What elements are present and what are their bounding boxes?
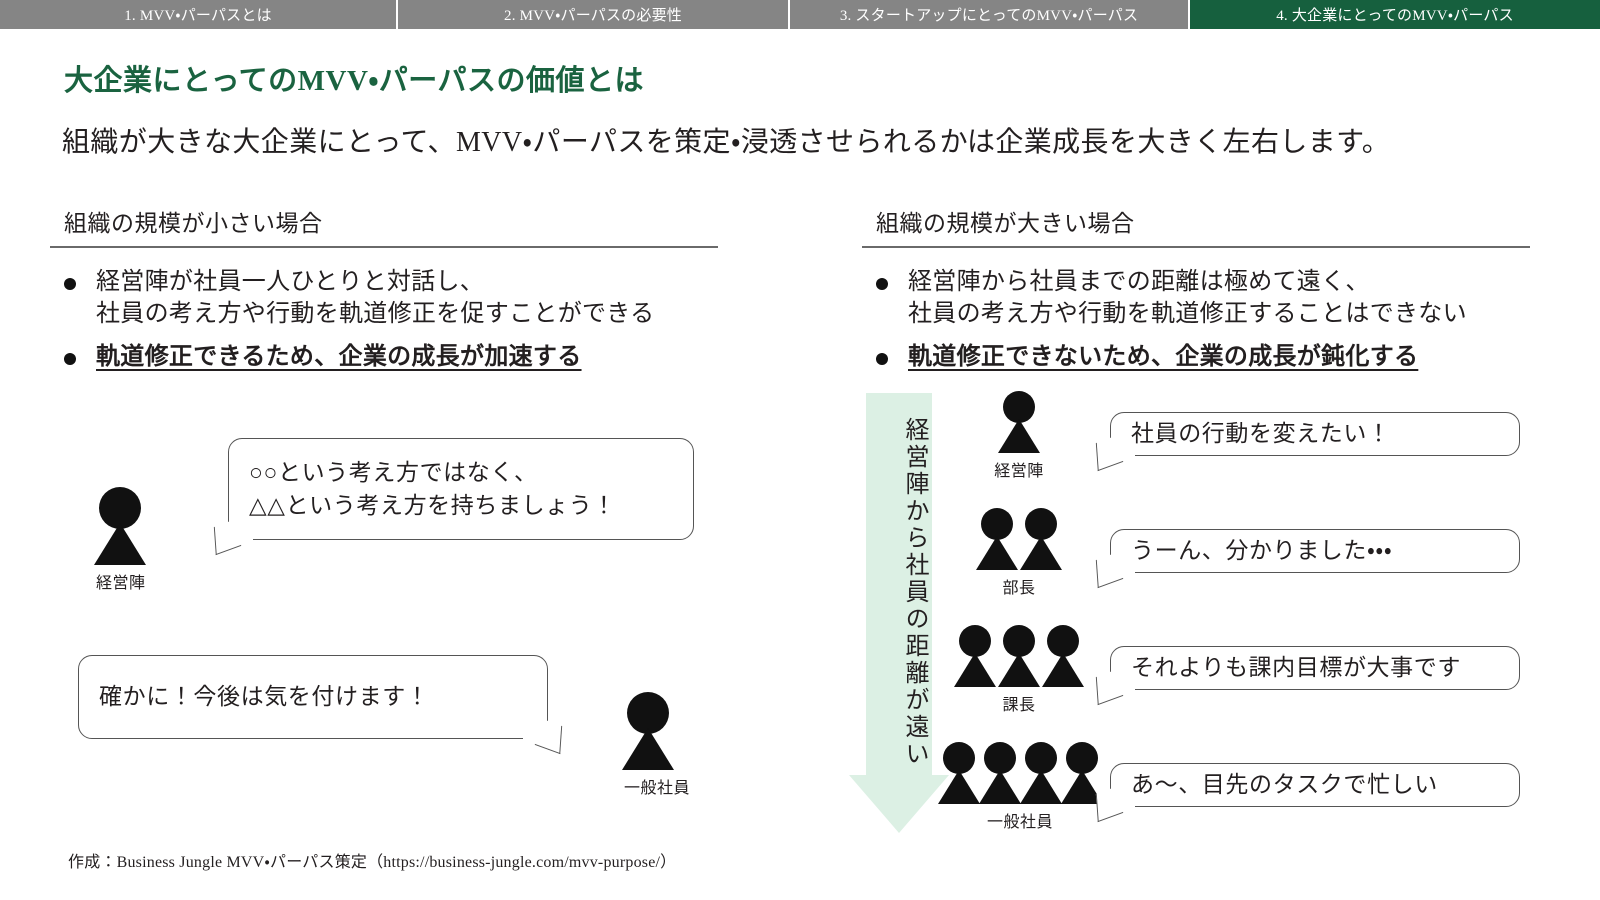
- person-icon: [981, 742, 1018, 804]
- hierarchy-level-kacho: 課長: [946, 625, 1092, 715]
- person-caption: 経営陣: [946, 457, 1092, 481]
- tab-2[interactable]: 2. MVV・パーパスの必要性: [398, 0, 790, 29]
- person-body-icon: [622, 728, 674, 770]
- person-icon: [977, 508, 1017, 570]
- hierarchy-level-bucho: 部長: [946, 508, 1092, 598]
- speech-bubble-level-bucho: うーん、分かりました・・・: [1110, 529, 1520, 573]
- right-panel-heading: 組織の規模が大きい場合: [862, 204, 1530, 238]
- speech-bubble-text: それよりも課内目標が大事です: [1131, 651, 1461, 684]
- right-panel-bullets: 経営陣から社員までの距離は極めて遠く、 社員の考え方や行動を軌道修正することはで…: [862, 266, 1530, 373]
- bullet-text-emphasis: 軌道修正できないため、企業の成長が鈍化する: [908, 341, 1418, 373]
- person-caption: 一般社員: [624, 774, 672, 798]
- list-item: 経営陣から社員までの距離は極めて遠く、 社員の考え方や行動を軌道修正することはで…: [876, 266, 1530, 331]
- person-icon: [1063, 742, 1100, 804]
- bullet-dot-icon: [64, 278, 76, 290]
- speech-bubble-text: 社員の行動を変えたい！: [1131, 417, 1391, 450]
- speech-bubble-text: あ〜、目先のタスクで忙しい: [1131, 768, 1438, 801]
- person-icon: [624, 692, 672, 770]
- speech-bubble-level-executive: 社員の行動を変えたい！: [1110, 412, 1520, 456]
- bullet-text: 経営陣が社員一人ひとりと対話し、 社員の考え方や行動を軌道修正を促すことができる: [96, 266, 654, 331]
- person-caption: 経営陣: [96, 569, 144, 593]
- panel-large-organization: 組織の規模が大きい場合 経営陣から社員までの距離は極めて遠く、 社員の考え方や行…: [862, 204, 1530, 383]
- page-lead-text: 組織が大きな大企業にとって、MVV・パーパスを策定・浸透させられるかは企業成長を…: [62, 120, 1390, 160]
- speech-bubble-text: ○○という考え方ではなく、 △△という考え方を持ちましょう！: [249, 456, 616, 523]
- person-body-icon: [954, 653, 996, 687]
- tail-seam-mask: [523, 736, 545, 742]
- person-body-icon: [94, 523, 146, 565]
- speech-bubble-text: うーん、分かりました・・・: [1131, 534, 1392, 567]
- person-body-icon: [1020, 536, 1062, 570]
- tail-seam-mask: [231, 537, 253, 543]
- person-icon: [1043, 625, 1083, 687]
- tail-seam-mask: [1113, 687, 1135, 693]
- arrow-head: [849, 775, 949, 833]
- tab-1[interactable]: 1. MVV・パーパスとは: [0, 0, 398, 29]
- speech-bubble-level-kacho: それよりも課内目標が大事です: [1110, 646, 1520, 690]
- person-body-icon: [998, 653, 1040, 687]
- tail-seam-mask: [1113, 570, 1135, 576]
- speech-bubble-level-staff: あ〜、目先のタスクで忙しい: [1110, 763, 1520, 807]
- person-group: [940, 742, 1100, 804]
- list-item: 軌道修正できるため、企業の成長が加速する: [64, 341, 718, 373]
- list-item: 経営陣が社員一人ひとりと対話し、 社員の考え方や行動を軌道修正を促すことができる: [64, 266, 718, 331]
- speech-bubble-staff: 確かに！今後は気を付けます！: [78, 655, 548, 739]
- left-staff-figure: 一般社員: [624, 692, 672, 798]
- hierarchy-level-staff: 一般社員: [940, 742, 1100, 832]
- person-group: [946, 391, 1092, 453]
- left-executive-figure: 経営陣: [96, 487, 144, 593]
- person-icon: [1021, 508, 1061, 570]
- bullet-dot-icon: [64, 353, 76, 365]
- person-caption: 部長: [946, 574, 1092, 598]
- left-panel-bullets: 経営陣が社員一人ひとりと対話し、 社員の考え方や行動を軌道修正を促すことができる…: [50, 266, 718, 373]
- hierarchy-level-executive: 経営陣: [946, 391, 1092, 481]
- person-body-icon: [938, 770, 980, 804]
- person-body-icon: [1020, 770, 1062, 804]
- distance-arrow-down-icon: 経営陣から社員の距離が遠い: [866, 393, 932, 833]
- arrow-label: 経営陣から社員の距離が遠い: [866, 417, 932, 768]
- person-group: [946, 508, 1092, 570]
- person-icon: [999, 391, 1039, 453]
- tail-seam-mask: [1113, 804, 1135, 810]
- person-group: [946, 625, 1092, 687]
- page-title: 大企業にとってのMVV・パーパスの価値とは: [64, 57, 644, 99]
- left-panel-divider: [50, 246, 718, 248]
- person-body-icon: [998, 419, 1040, 453]
- person-icon: [96, 487, 144, 565]
- speech-bubble-text: 確かに！今後は気を付けます！: [99, 680, 429, 713]
- bullet-text-emphasis: 軌道修正できるため、企業の成長が加速する: [96, 341, 582, 373]
- tab-4[interactable]: 4. 大企業にとってのMVV・パーパス: [1190, 0, 1600, 29]
- bullet-text: 経営陣から社員までの距離は極めて遠く、 社員の考え方や行動を軌道修正することはで…: [908, 266, 1467, 331]
- tail-seam-mask: [1113, 453, 1135, 459]
- person-icon: [955, 625, 995, 687]
- section-nav-tabbar: 1. MVV・パーパスとは 2. MVV・パーパスの必要性 3. スタートアップ…: [0, 0, 1600, 29]
- right-panel-divider: [862, 246, 1530, 248]
- person-icon: [999, 625, 1039, 687]
- person-body-icon: [979, 770, 1021, 804]
- panel-small-organization: 組織の規模が小さい場合 経営陣が社員一人ひとりと対話し、 社員の考え方や行動を軌…: [50, 204, 718, 383]
- person-caption: 課長: [946, 691, 1092, 715]
- footer-credit: 作成：Business Jungle MVV・パーパス策定（https://bu…: [68, 848, 676, 872]
- left-panel-heading: 組織の規模が小さい場合: [50, 204, 718, 238]
- person-body-icon: [976, 536, 1018, 570]
- tab-3[interactable]: 3. スタートアップにとってのMVV・パーパス: [790, 0, 1190, 29]
- person-body-icon: [1042, 653, 1084, 687]
- person-icon: [1022, 742, 1059, 804]
- person-caption: 一般社員: [940, 808, 1100, 832]
- bullet-dot-icon: [876, 278, 888, 290]
- bullet-dot-icon: [876, 353, 888, 365]
- person-icon: [940, 742, 977, 804]
- speech-bubble-executive: ○○という考え方ではなく、 △△という考え方を持ちましょう！: [228, 438, 694, 540]
- list-item: 軌道修正できないため、企業の成長が鈍化する: [876, 341, 1530, 373]
